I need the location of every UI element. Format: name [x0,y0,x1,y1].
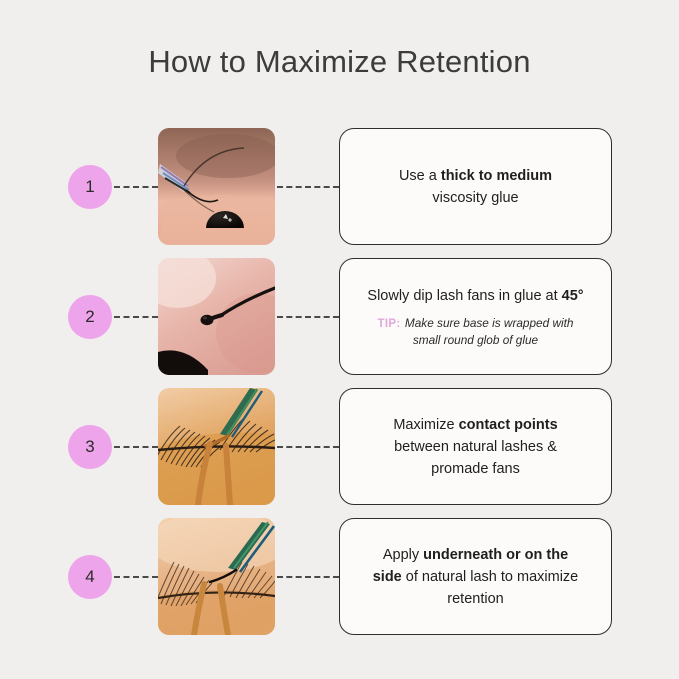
card-text-plain: viscosity glue [432,190,518,206]
connector-photo-to-card-2 [277,316,339,318]
steps-list: 1 [0,128,679,648]
step-number-badge-1: 1 [68,165,112,209]
card-text-plain: Use a [399,168,441,184]
step-number-label: 3 [85,437,94,457]
tip-text-line: Make sure base is wrapped with [405,316,574,330]
card-text-bold: thick to medium [441,168,552,184]
connector-photo-to-card-1 [277,186,339,188]
tip-label: TIP: [378,318,401,330]
connector-badge-to-photo-3 [114,446,158,448]
contact-points-photo-icon [158,388,275,505]
step-photo-4 [158,518,275,635]
card-text-plain: retention [447,591,503,607]
glue-drop-photo-icon [158,128,275,245]
card-text-line: side of natural lash to maximize [373,566,579,588]
step-number-badge-4: 4 [68,555,112,599]
step-number-label: 4 [85,567,94,587]
card-text-bold: contact points [459,417,558,433]
connector-badge-to-photo-1 [114,186,158,188]
step-number-badge-3: 3 [68,425,112,469]
step-card-2: Slowly dip lash fans in glue at 45° TIP:… [339,258,612,375]
card-text-line: between natural lashes & [394,436,557,458]
card-text-bold: underneath or on the [423,547,568,563]
card-text-line: Slowly dip lash fans in glue at 45° [367,285,583,307]
card-text-line: retention [447,588,503,610]
tip-first-line: TIP: Make sure base is wrapped with [378,314,574,332]
step-photo-1 [158,128,275,245]
card-text-bold: side [373,569,402,585]
card-text-plain: Apply [383,547,423,563]
step-number-badge-2: 2 [68,295,112,339]
step-number-label: 2 [85,307,94,327]
step-photo-2 [158,258,275,375]
step-row-2: 2 [0,258,679,375]
tip-block: TIP: Make sure base is wrapped with smal… [378,314,574,348]
connector-photo-to-card-3 [277,446,339,448]
step-photo-3 [158,388,275,505]
card-text-line: Apply underneath or on the [383,544,568,566]
lash-fan-dipping-photo-icon [158,258,275,375]
page-title: How to Maximize Retention [0,44,679,80]
tip-text-line: small round glob of glue [378,332,574,348]
connector-badge-to-photo-2 [114,316,158,318]
step-row-4: 4 [0,518,679,635]
card-text-plain: of natural lash to maximize [402,569,579,585]
underneath-application-photo-icon [158,518,275,635]
step-card-4: Apply underneath or on the side of natur… [339,518,612,635]
card-text-line: Maximize contact points [393,414,557,436]
infographic-root: How to Maximize Retention 1 [0,0,679,679]
connector-photo-to-card-4 [277,576,339,578]
card-text-bold: 45° [562,288,584,304]
step-card-1: Use a thick to medium viscosity glue [339,128,612,245]
card-text-plain: Slowly dip lash fans in glue at [367,288,561,304]
card-text-line: viscosity glue [432,187,518,209]
connector-badge-to-photo-4 [114,576,158,578]
card-text-plain: promade fans [431,461,520,477]
step-number-label: 1 [85,177,94,197]
step-row-3: 3 [0,388,679,505]
card-text-plain: Maximize [393,417,458,433]
card-text-plain: between natural lashes & [394,439,557,455]
card-text-line: promade fans [431,458,520,480]
step-row-1: 1 [0,128,679,245]
card-text-line: Use a thick to medium [399,165,552,187]
step-card-3: Maximize contact points between natural … [339,388,612,505]
